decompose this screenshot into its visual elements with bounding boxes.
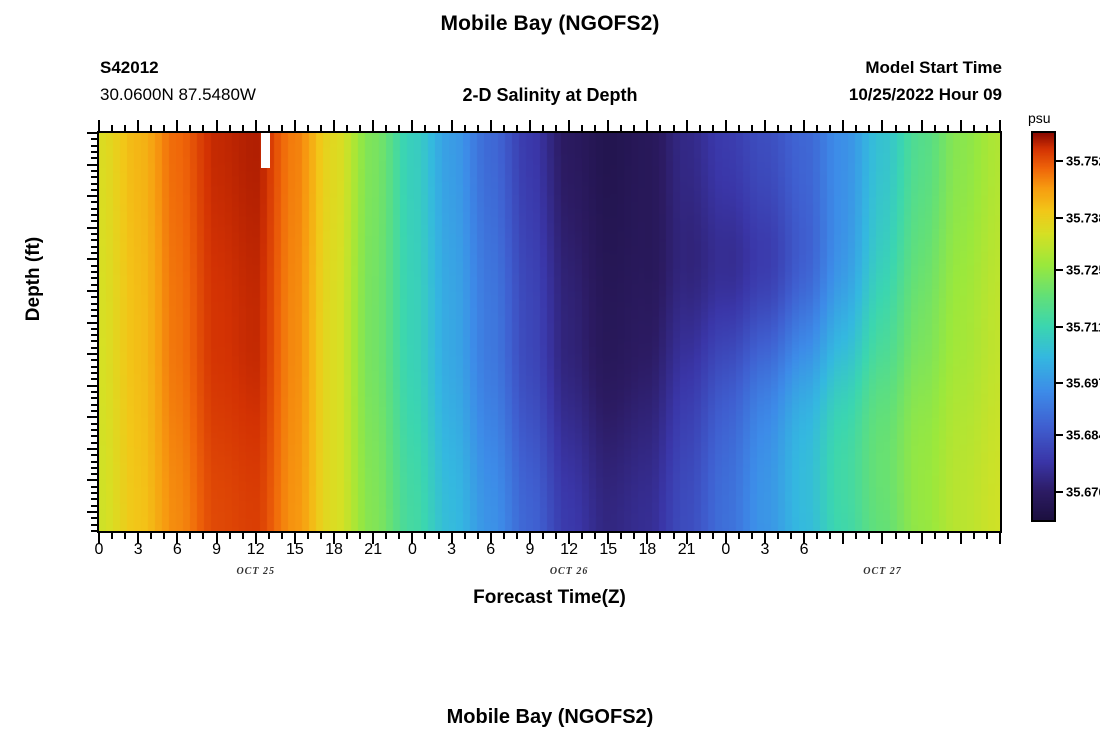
x-axis-tick-label: 21 (364, 541, 382, 559)
y-axis-minor-tick (91, 442, 99, 444)
x-axis-title: Forecast Time(Z) (97, 587, 1002, 609)
x-axis-minor-tick-top (777, 125, 779, 131)
colorbar-tick-label: 35.752 (1066, 154, 1100, 169)
x-axis-minor-tick-top (438, 125, 440, 131)
x-axis-minor-tick-top (633, 125, 635, 131)
x-axis-date-label: OCT 25 (236, 566, 275, 577)
y-axis-minor-tick (91, 498, 99, 500)
x-axis-minor-tick-top (385, 125, 387, 131)
x-axis-minor-tick-top (868, 125, 870, 131)
x-axis-minor-tick (855, 533, 857, 539)
y-axis-minor-tick (91, 296, 99, 298)
y-axis-minor-tick (91, 410, 99, 412)
y-axis-minor-tick (91, 492, 99, 494)
x-axis-minor-tick (777, 533, 779, 539)
model-start-time-label: Model Start Time (865, 58, 1002, 78)
x-axis-minor-tick (712, 533, 714, 539)
x-axis-minor-tick (346, 533, 348, 539)
x-axis-minor-tick (438, 533, 440, 539)
y-axis-minor-tick (91, 246, 99, 248)
x-axis-minor-tick (790, 533, 792, 539)
x-axis-minor-tick (659, 533, 661, 539)
x-axis-date-label: OCT 26 (550, 566, 589, 577)
x-axis-minor-tick-top (738, 125, 740, 131)
x-axis-tick-label: 0 (408, 541, 417, 559)
x-axis-minor-tick-top (751, 125, 753, 131)
x-axis-major-tick-top (451, 120, 453, 131)
x-axis-major-tick-top (881, 120, 883, 131)
x-axis-major-tick-top (372, 120, 374, 131)
x-axis-minor-tick (242, 533, 244, 539)
y-axis-major-tick (87, 258, 99, 260)
y-axis-minor-tick (91, 328, 99, 330)
y-axis-major-tick (87, 511, 99, 513)
x-axis-minor-tick (202, 533, 204, 539)
x-axis-major-tick-top (333, 120, 335, 131)
y-axis-labels: 051015202530354045505560 (0, 0, 88, 750)
y-axis-minor-tick (91, 309, 99, 311)
y-axis-minor-tick (91, 524, 99, 526)
x-axis-minor-tick-top (464, 125, 466, 131)
x-axis-minor-tick (594, 533, 596, 539)
y-axis-minor-tick (91, 378, 99, 380)
y-axis-minor-tick (91, 315, 99, 317)
x-axis-minor-tick (189, 533, 191, 539)
x-axis-minor-tick-top (111, 125, 113, 131)
heatmap-plot-area (97, 131, 1002, 533)
y-axis-minor-tick (91, 284, 99, 286)
y-axis-major-tick (87, 227, 99, 229)
model-start-time-value: 10/25/2022 Hour 09 (849, 85, 1002, 105)
y-axis-minor-tick (91, 176, 99, 178)
y-axis-minor-tick (91, 435, 99, 437)
x-axis-minor-tick (699, 533, 701, 539)
x-axis-minor-tick-top (542, 125, 544, 131)
x-axis-tick-label: 3 (761, 541, 770, 559)
x-axis-minor-tick (503, 533, 505, 539)
x-axis-minor-tick-top (973, 125, 975, 131)
x-axis-minor-tick-top (189, 125, 191, 131)
x-axis-minor-tick-top (581, 125, 583, 131)
y-axis-minor-tick (91, 145, 99, 147)
y-axis-minor-tick (91, 252, 99, 254)
x-axis-tick-label: 12 (247, 541, 265, 559)
colorbar-tick (1056, 326, 1063, 328)
x-axis-minor-tick-top (424, 125, 426, 131)
page-title: Mobile Bay (NGOFS2) (0, 12, 1100, 36)
x-axis-minor-tick-top (268, 125, 270, 131)
x-axis-date-label: OCT 27 (863, 566, 902, 577)
x-axis-major-tick-top (646, 120, 648, 131)
x-axis-major-tick-top (98, 120, 100, 131)
y-axis-minor-tick (91, 391, 99, 393)
y-axis-minor-tick (91, 239, 99, 241)
y-axis-minor-tick (91, 233, 99, 235)
x-axis-minor-tick-top (855, 125, 857, 131)
y-axis-minor-tick (91, 170, 99, 172)
x-axis-minor-tick-top (699, 125, 701, 131)
y-axis-minor-tick (91, 454, 99, 456)
x-axis-minor-tick-top (934, 125, 936, 131)
y-axis-minor-tick (91, 157, 99, 159)
x-axis-minor-tick-top (229, 125, 231, 131)
x-axis-minor-tick (320, 533, 322, 539)
x-axis-major-tick-top (216, 120, 218, 131)
x-axis-major-tick-top (176, 120, 178, 131)
x-axis-major-tick-top (529, 120, 531, 131)
colorbar-tick (1056, 382, 1063, 384)
observation-marker (261, 133, 270, 168)
x-axis-minor-tick-top (398, 125, 400, 131)
x-axis-major-tick-top (803, 120, 805, 131)
x-axis-minor-tick-top (163, 125, 165, 131)
x-axis-minor-tick-top (242, 125, 244, 131)
y-axis-minor-tick (91, 214, 99, 216)
colorbar-unit-label: psu (1028, 110, 1051, 126)
x-axis-tick-label: 12 (560, 541, 578, 559)
x-axis-minor-tick-top (816, 125, 818, 131)
x-axis-minor-tick (398, 533, 400, 539)
x-axis-minor-tick (829, 533, 831, 539)
x-axis-minor-tick-top (516, 125, 518, 131)
x-axis-minor-tick (229, 533, 231, 539)
y-axis-major-tick (87, 195, 99, 197)
y-axis-minor-tick (91, 334, 99, 336)
colorbar-tick (1056, 217, 1063, 219)
x-axis-minor-tick (163, 533, 165, 539)
y-axis-major-tick (87, 132, 99, 134)
x-axis-tick-label: 15 (599, 541, 617, 559)
y-axis-minor-tick (91, 271, 99, 273)
x-axis-minor-tick (477, 533, 479, 539)
x-axis-major-tick-top (999, 120, 1001, 131)
y-axis-minor-tick (91, 397, 99, 399)
y-axis-minor-tick (91, 359, 99, 361)
x-axis-minor-tick (895, 533, 897, 539)
x-axis-minor-tick (359, 533, 361, 539)
x-axis-minor-tick (581, 533, 583, 539)
x-axis-major-tick (921, 533, 923, 544)
x-axis-tick-label: 6 (800, 541, 809, 559)
x-axis-tick-label: 18 (639, 541, 657, 559)
x-axis-major-tick-top (725, 120, 727, 131)
y-axis-minor-tick (91, 183, 99, 185)
y-axis-minor-tick (91, 151, 99, 153)
x-axis-major-tick-top (842, 120, 844, 131)
x-axis-minor-tick-top (555, 125, 557, 131)
x-axis-minor-tick (424, 533, 426, 539)
x-axis-major-tick (960, 533, 962, 544)
x-axis-tick-label: 9 (525, 541, 534, 559)
x-axis-tick-label: 9 (212, 541, 221, 559)
x-axis-tick-label: 6 (486, 541, 495, 559)
x-axis-major-tick (881, 533, 883, 544)
x-axis-minor-tick (268, 533, 270, 539)
x-axis-major-tick-top (607, 120, 609, 131)
x-axis-major-tick-top (294, 120, 296, 131)
y-axis-minor-tick (91, 208, 99, 210)
x-axis-major-tick-top (921, 120, 923, 131)
x-axis-minor-tick-top (477, 125, 479, 131)
y-axis-minor-tick (91, 530, 99, 532)
x-axis-tick-label: 3 (447, 541, 456, 559)
x-axis-major-tick-top (137, 120, 139, 131)
x-axis-minor-tick (620, 533, 622, 539)
x-axis-minor-tick-top (346, 125, 348, 131)
y-axis-minor-tick (91, 340, 99, 342)
colorbar-tick-label: 35.738 (1066, 210, 1100, 225)
x-axis-major-tick-top (255, 120, 257, 131)
x-axis-minor-tick (464, 533, 466, 539)
x-axis-major-tick (999, 533, 1001, 544)
y-axis-minor-tick (91, 404, 99, 406)
y-axis-minor-tick (91, 189, 99, 191)
x-axis-minor-tick-top (359, 125, 361, 131)
x-axis-minor-tick (124, 533, 126, 539)
x-axis-minor-tick (986, 533, 988, 539)
x-axis-minor-tick-top (947, 125, 949, 131)
y-axis-major-tick (87, 164, 99, 166)
x-axis-tick-label: 3 (134, 541, 143, 559)
colorbar-tick (1056, 434, 1063, 436)
x-axis-minor-tick (868, 533, 870, 539)
x-axis-minor-tick-top (594, 125, 596, 131)
x-axis-minor-tick-top (124, 125, 126, 131)
y-axis-major-tick (87, 479, 99, 481)
y-axis-minor-tick (91, 201, 99, 203)
y-axis-minor-tick (91, 429, 99, 431)
x-axis-major-tick-top (686, 120, 688, 131)
x-axis-tick-label: 0 (95, 541, 104, 559)
x-axis-minor-tick (673, 533, 675, 539)
colorbar-tick-label: 35.725 (1066, 263, 1100, 278)
y-axis-minor-tick (91, 486, 99, 488)
x-axis-tick-label: 15 (286, 541, 304, 559)
x-axis-minor-tick-top (307, 125, 309, 131)
x-axis-major-tick (842, 533, 844, 544)
x-axis-minor-tick-top (150, 125, 152, 131)
x-axis-minor-tick (150, 533, 152, 539)
y-axis-minor-tick (91, 372, 99, 374)
footer-title: Mobile Bay (NGOFS2) (0, 706, 1100, 729)
x-axis-minor-tick (111, 533, 113, 539)
x-axis-tick-label: 21 (678, 541, 696, 559)
x-axis-minor-tick-top (673, 125, 675, 131)
y-axis-minor-tick (91, 366, 99, 368)
y-axis-major-tick (87, 290, 99, 292)
x-axis-major-tick-top (490, 120, 492, 131)
x-axis-tick-label: 6 (173, 541, 182, 559)
x-axis-minor-tick-top (620, 125, 622, 131)
x-axis-minor-tick-top (895, 125, 897, 131)
colorbar-tick (1056, 491, 1063, 493)
y-axis-major-tick (87, 353, 99, 355)
x-axis-minor-tick-top (790, 125, 792, 131)
y-axis-major-tick (87, 416, 99, 418)
colorbar-tick (1056, 160, 1063, 162)
x-axis-minor-tick-top (712, 125, 714, 131)
colorbar-tick-label: 35.697 (1066, 375, 1100, 390)
x-axis-minor-tick-top (986, 125, 988, 131)
x-axis-minor-tick-top (503, 125, 505, 131)
y-axis-minor-tick (91, 220, 99, 222)
y-axis-minor-tick (91, 467, 99, 469)
x-axis-major-tick-top (568, 120, 570, 131)
y-axis-minor-tick (91, 423, 99, 425)
x-axis-minor-tick (947, 533, 949, 539)
x-axis-tick-label: 18 (325, 541, 343, 559)
y-axis-minor-tick (91, 265, 99, 267)
colorbar-tick-label: 35.670 (1066, 484, 1100, 499)
station-id: S42012 (100, 58, 159, 78)
x-axis-minor-tick-top (659, 125, 661, 131)
x-axis-major-tick-top (960, 120, 962, 131)
colorbar (1031, 131, 1056, 522)
x-axis-minor-tick-top (829, 125, 831, 131)
colorbar-tick (1056, 269, 1063, 271)
y-axis-minor-tick (91, 505, 99, 507)
x-axis-minor-tick (307, 533, 309, 539)
x-axis-minor-tick-top (281, 125, 283, 131)
y-axis-minor-tick (91, 461, 99, 463)
x-axis-minor-tick (934, 533, 936, 539)
x-axis-major-tick-top (411, 120, 413, 131)
y-axis-major-tick (87, 385, 99, 387)
colorbar-tick-label: 35.711 (1066, 319, 1100, 334)
x-axis-minor-tick (633, 533, 635, 539)
salinity-heatmap (99, 133, 1000, 531)
y-axis-minor-tick (91, 277, 99, 279)
x-axis-minor-tick-top (202, 125, 204, 131)
x-axis-minor-tick (385, 533, 387, 539)
y-axis-major-tick (87, 448, 99, 450)
x-axis-tick-label: 0 (721, 541, 730, 559)
x-axis-minor-tick (908, 533, 910, 539)
colorbar-gradient (1033, 133, 1054, 520)
x-axis-minor-tick-top (320, 125, 322, 131)
x-axis-minor-tick (751, 533, 753, 539)
y-axis-minor-tick (91, 138, 99, 140)
y-axis-minor-tick (91, 303, 99, 305)
x-axis-minor-tick (816, 533, 818, 539)
y-axis-minor-tick (91, 517, 99, 519)
y-axis-minor-tick (91, 473, 99, 475)
x-axis-minor-tick (555, 533, 557, 539)
y-axis-title: Depth (ft) (23, 199, 45, 359)
x-axis-minor-tick (516, 533, 518, 539)
y-axis-major-tick (87, 322, 99, 324)
x-axis-minor-tick-top (908, 125, 910, 131)
x-axis-major-tick-top (764, 120, 766, 131)
x-axis-minor-tick (281, 533, 283, 539)
y-axis-minor-tick (91, 347, 99, 349)
x-axis-minor-tick (738, 533, 740, 539)
colorbar-tick-label: 35.684 (1066, 428, 1100, 443)
x-axis-minor-tick (542, 533, 544, 539)
x-axis-minor-tick (973, 533, 975, 539)
